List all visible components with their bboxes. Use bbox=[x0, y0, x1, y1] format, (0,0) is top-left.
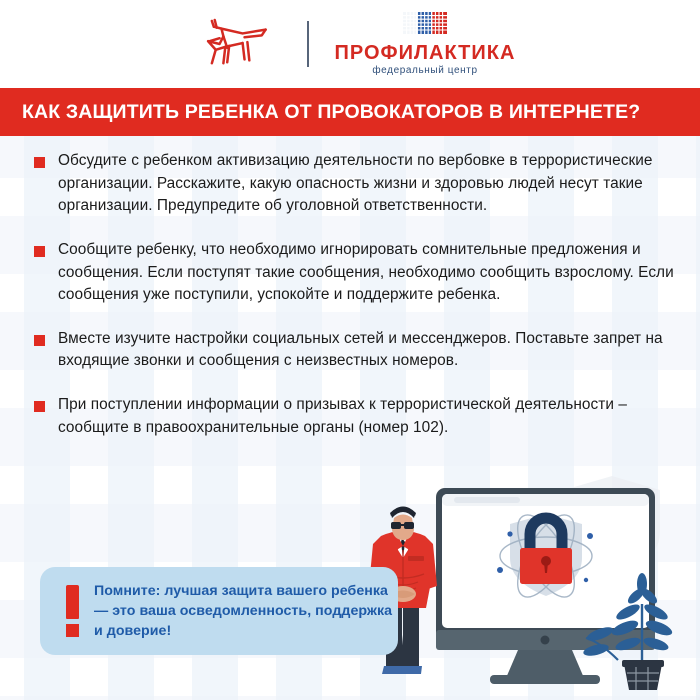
square-bullet-icon bbox=[34, 246, 45, 257]
list-item: При поступлении информации о призывах к … bbox=[0, 394, 700, 439]
list-item-text: Вместе изучите настройки социальных сете… bbox=[58, 328, 674, 373]
square-bullet-icon bbox=[34, 335, 45, 346]
list-item-text: Сообщите ребенку, что необходимо игнорир… bbox=[58, 239, 674, 307]
exclamation-mark-icon bbox=[64, 585, 80, 637]
list-item: Обсудите с ребенком активизацию деятельн… bbox=[0, 150, 700, 218]
page-title: КАК ЗАЩИТИТЬ РЕБЕНКА ОТ ПРОВОКАТОРОВ В И… bbox=[0, 101, 640, 124]
profilaktika-brand: ПРОФИЛАКТИКА федеральный центр bbox=[335, 12, 516, 76]
horse-line-art-logo bbox=[185, 15, 281, 73]
poster: ПРОФИЛАКТИКА федеральный центр КАК ЗАЩИТ… bbox=[0, 0, 700, 700]
list-item: Вместе изучите настройки социальных сете… bbox=[0, 328, 700, 373]
flag-grid-icon bbox=[403, 12, 447, 39]
square-bullet-icon bbox=[34, 157, 45, 168]
brand-subtitle: федеральный центр bbox=[372, 66, 477, 76]
list-item-text: При поступлении информации о призывах к … bbox=[58, 394, 674, 439]
list-item: Сообщите ребенку, что необходимо игнорир… bbox=[0, 239, 700, 307]
header: ПРОФИЛАКТИКА федеральный центр bbox=[0, 0, 700, 88]
square-bullet-icon bbox=[34, 401, 45, 412]
list-item-text: Обсудите с ребенком активизацию деятельн… bbox=[58, 150, 674, 218]
reminder-text: Помните: лучшая защита вашего ребенка — … bbox=[94, 581, 398, 641]
headline-banner: КАК ЗАЩИТИТЬ РЕБЕНКА ОТ ПРОВОКАТОРОВ В И… bbox=[0, 88, 700, 136]
security-illustration bbox=[350, 470, 700, 700]
header-divider bbox=[307, 21, 309, 67]
reminder-callout: Помните: лучшая защита вашего ребенка — … bbox=[40, 567, 398, 655]
advice-list: Обсудите с ребенком активизацию деятельн… bbox=[0, 150, 700, 460]
brand-name: ПРОФИЛАКТИКА bbox=[335, 43, 516, 63]
